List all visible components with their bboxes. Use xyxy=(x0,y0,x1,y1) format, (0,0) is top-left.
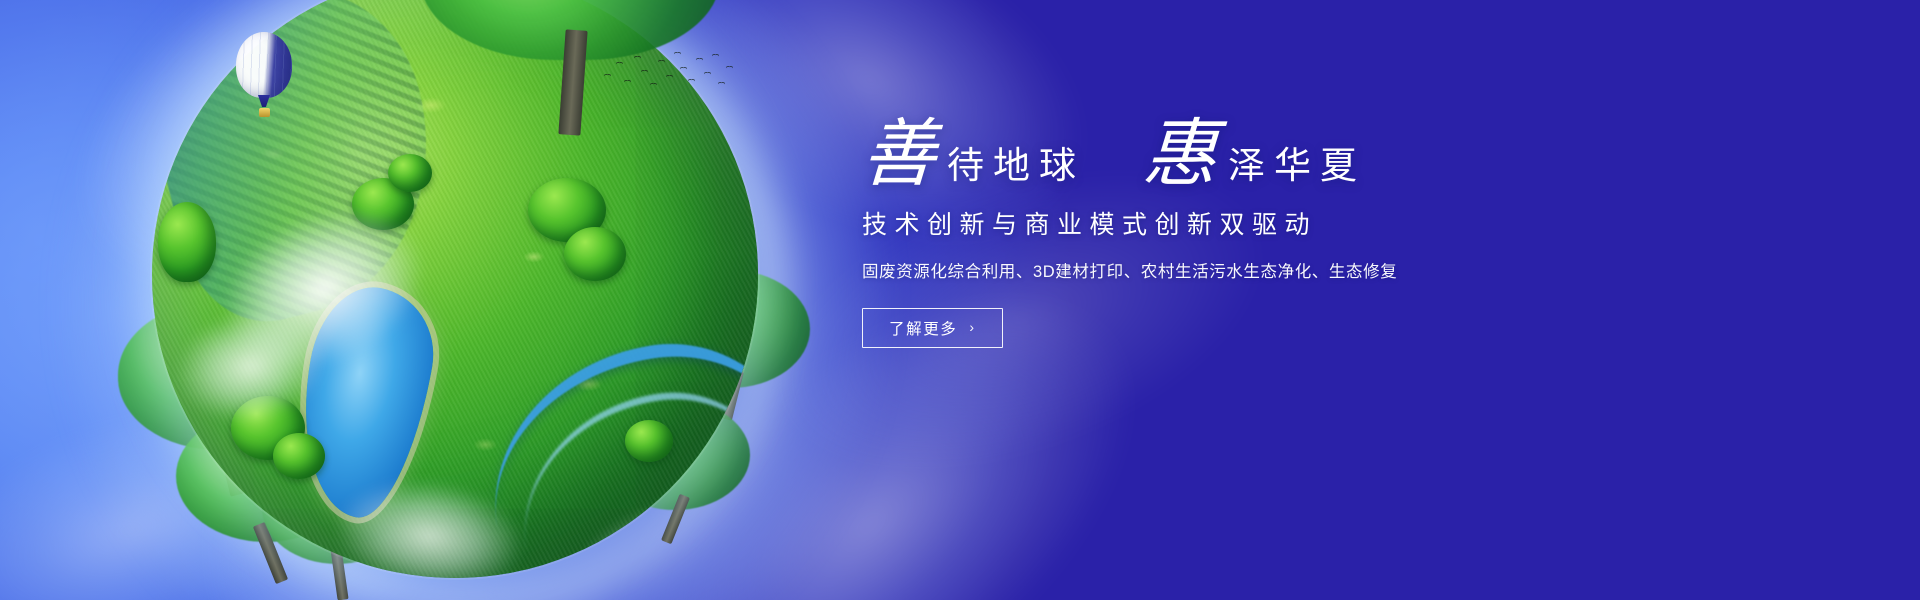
flock-of-birds-icon xyxy=(600,48,740,96)
balloon-seams xyxy=(236,32,292,98)
balloon-neck xyxy=(258,95,270,107)
balloon-basket xyxy=(259,108,270,117)
learn-more-button[interactable]: 了解更多 › xyxy=(862,308,1003,348)
hero-copy: 善 待地球 惠 泽华夏 技术创新与商业模式创新双驱动 固废资源化综合利用、3D建… xyxy=(862,120,1562,348)
hero-subtitle: 技术创新与商业模式创新双驱动 xyxy=(862,209,1562,242)
tree-cluster xyxy=(388,154,432,192)
hero-description: 固废资源化综合利用、3D建材打印、农村生活污水生态净化、生态修复 xyxy=(862,260,1562,285)
chevron-right-icon: › xyxy=(969,319,975,335)
hot-air-balloon-icon xyxy=(236,32,292,124)
learn-more-label: 了解更多 xyxy=(889,317,957,339)
tree-cluster xyxy=(273,433,325,479)
headline-rest-2: 泽华夏 xyxy=(1218,148,1366,191)
hero-banner: 善 待地球 惠 泽华夏 技术创新与商业模式创新双驱动 固废资源化综合利用、3D建… xyxy=(0,0,1920,600)
tree-cluster xyxy=(158,202,216,282)
headline-char-2: 惠 xyxy=(1141,120,1220,191)
tree-cluster xyxy=(564,227,626,281)
headline-rest-1: 待地球 xyxy=(937,148,1085,191)
tree-cluster xyxy=(625,420,673,462)
headline-char-1: 善 xyxy=(860,120,939,191)
headline: 善 待地球 惠 泽华夏 xyxy=(862,120,1562,191)
